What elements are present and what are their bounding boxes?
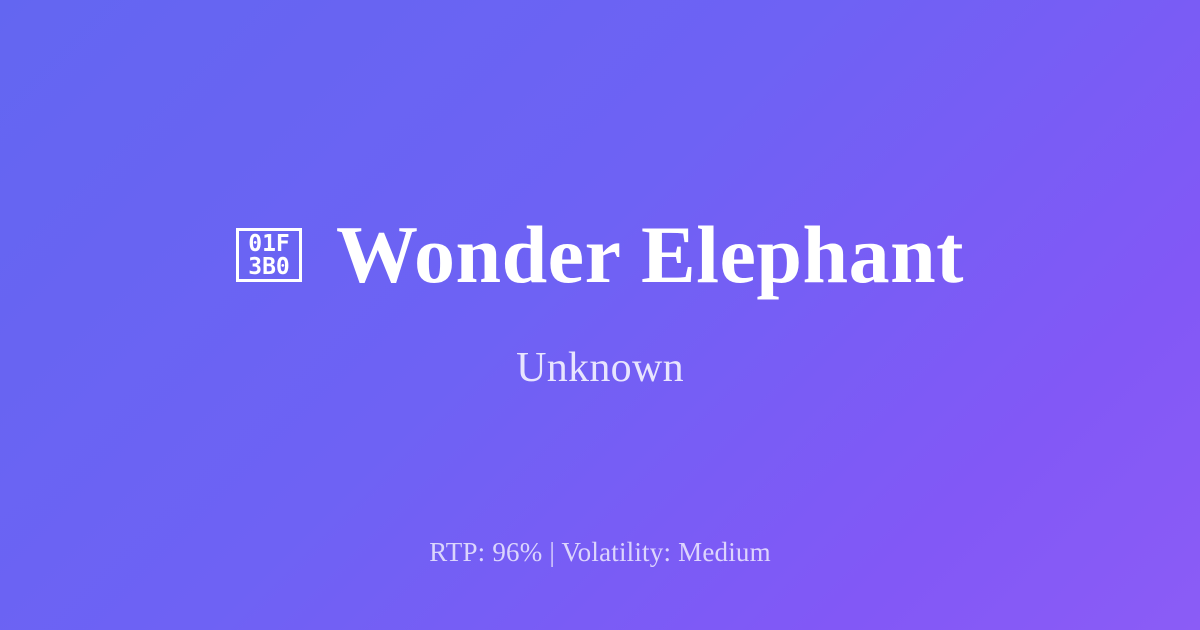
- og-card: 01F 3B0 Wonder Elephant Unknown RTP: 96%…: [0, 0, 1200, 630]
- title-row: 01F 3B0 Wonder Elephant: [0, 212, 1200, 298]
- page-title: Wonder Elephant: [336, 212, 964, 298]
- card-footer: RTP: 96% | Volatility: Medium: [0, 536, 1200, 568]
- tofu-codepoint-top: 01F: [248, 233, 290, 256]
- card-subtitle: Unknown: [516, 344, 684, 392]
- slot-machine-tofu-icon: 01F 3B0: [236, 228, 302, 282]
- tofu-codepoint-bottom: 3B0: [248, 256, 290, 279]
- card-center-block: 01F 3B0 Wonder Elephant Unknown: [0, 212, 1200, 392]
- card-meta-text: RTP: 96% | Volatility: Medium: [429, 537, 771, 567]
